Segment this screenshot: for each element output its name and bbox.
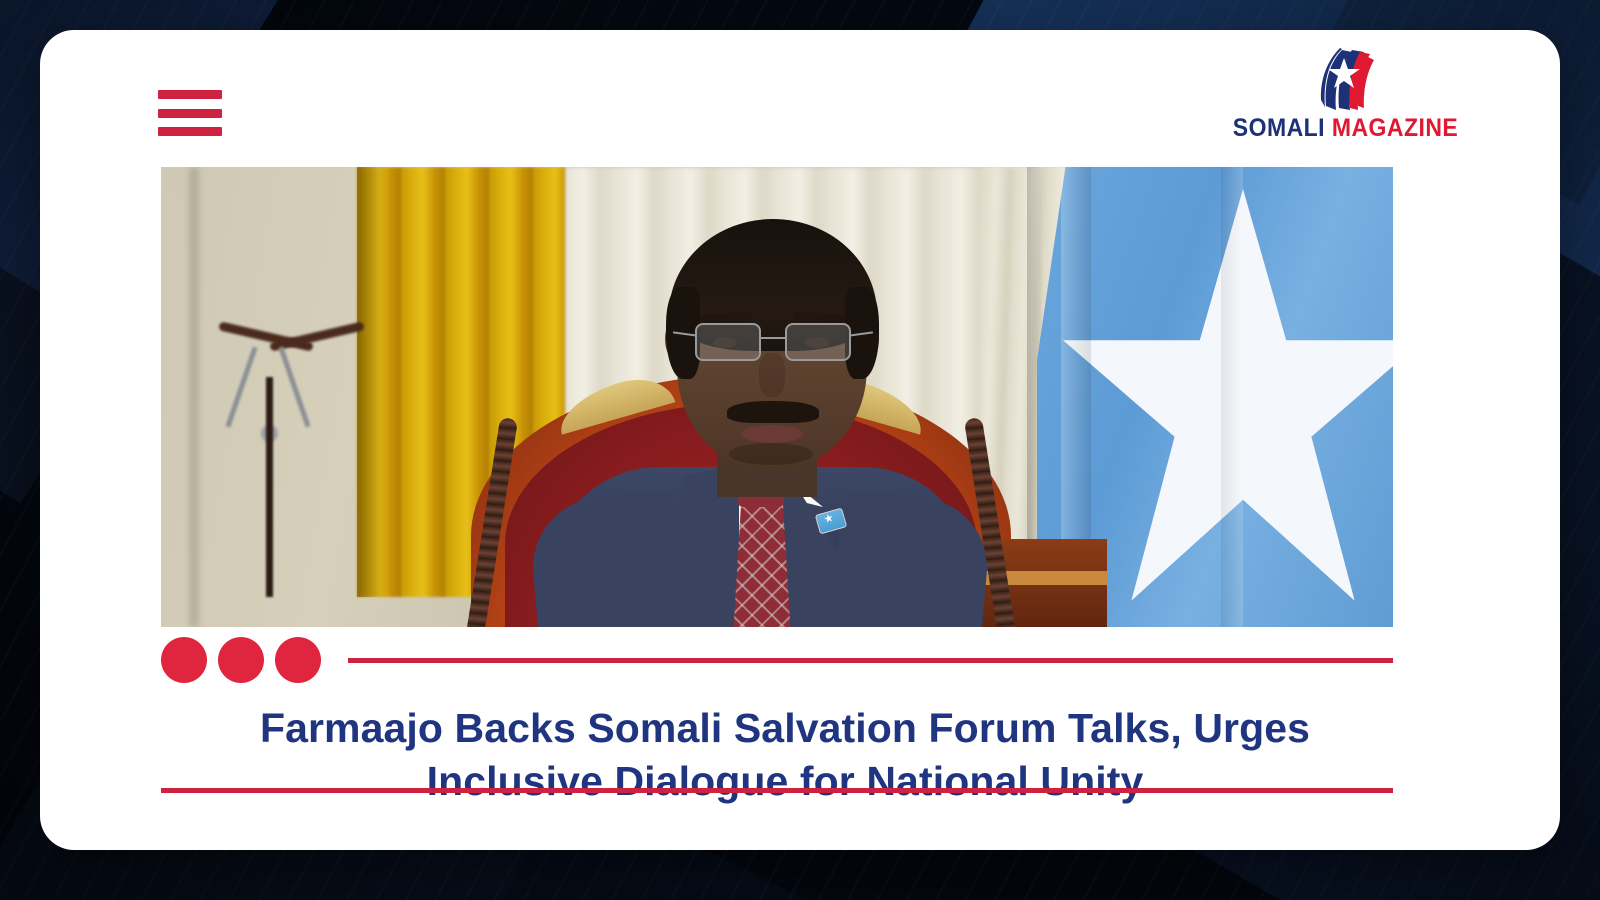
photo-subject-moustache [727,401,819,423]
photo-wall-edge [189,167,199,627]
dot-1 [161,637,207,683]
hamburger-bar-2 [158,109,222,118]
dot-2 [218,637,264,683]
photo-subject-tie [733,503,791,627]
photo-gold-curtain-shadow [357,167,387,597]
hamburger-bar-3 [158,127,222,136]
dot-3 [275,637,321,683]
photo-coat-rack-pole [266,377,273,597]
photo-subject-nose [759,353,785,397]
hamburger-bar-1 [158,90,222,99]
divider-bottom [161,788,1393,793]
photo-subject-chin [729,443,813,465]
brand-word-somali: SOMALI [1232,114,1324,142]
photo-subject-mouth [741,425,803,443]
news-card: SOMALI MAGAZINE [40,30,1560,850]
page-backdrop: SOMALI MAGAZINE [0,0,1600,900]
somali-flag-star-emblem-icon [1312,48,1378,112]
brand-word-magazine: MAGAZINE [1331,114,1457,142]
brand-logo[interactable]: SOMALI MAGAZINE [1240,48,1450,168]
photo-subject-glasses-bridge [761,337,785,339]
photo-subject-glasses-right-lens [785,323,851,361]
hero-image: ★ [161,167,1393,627]
photo-subject-glasses-left-lens [695,323,761,361]
card-header: SOMALI MAGAZINE [40,30,1560,167]
decorative-dots-row [161,635,1393,685]
brand-wordmark: SOMALI MAGAZINE [1232,114,1457,143]
hamburger-menu-icon[interactable] [158,90,222,136]
photo-flag-fold-2 [1221,167,1243,627]
divider-top [348,658,1393,663]
